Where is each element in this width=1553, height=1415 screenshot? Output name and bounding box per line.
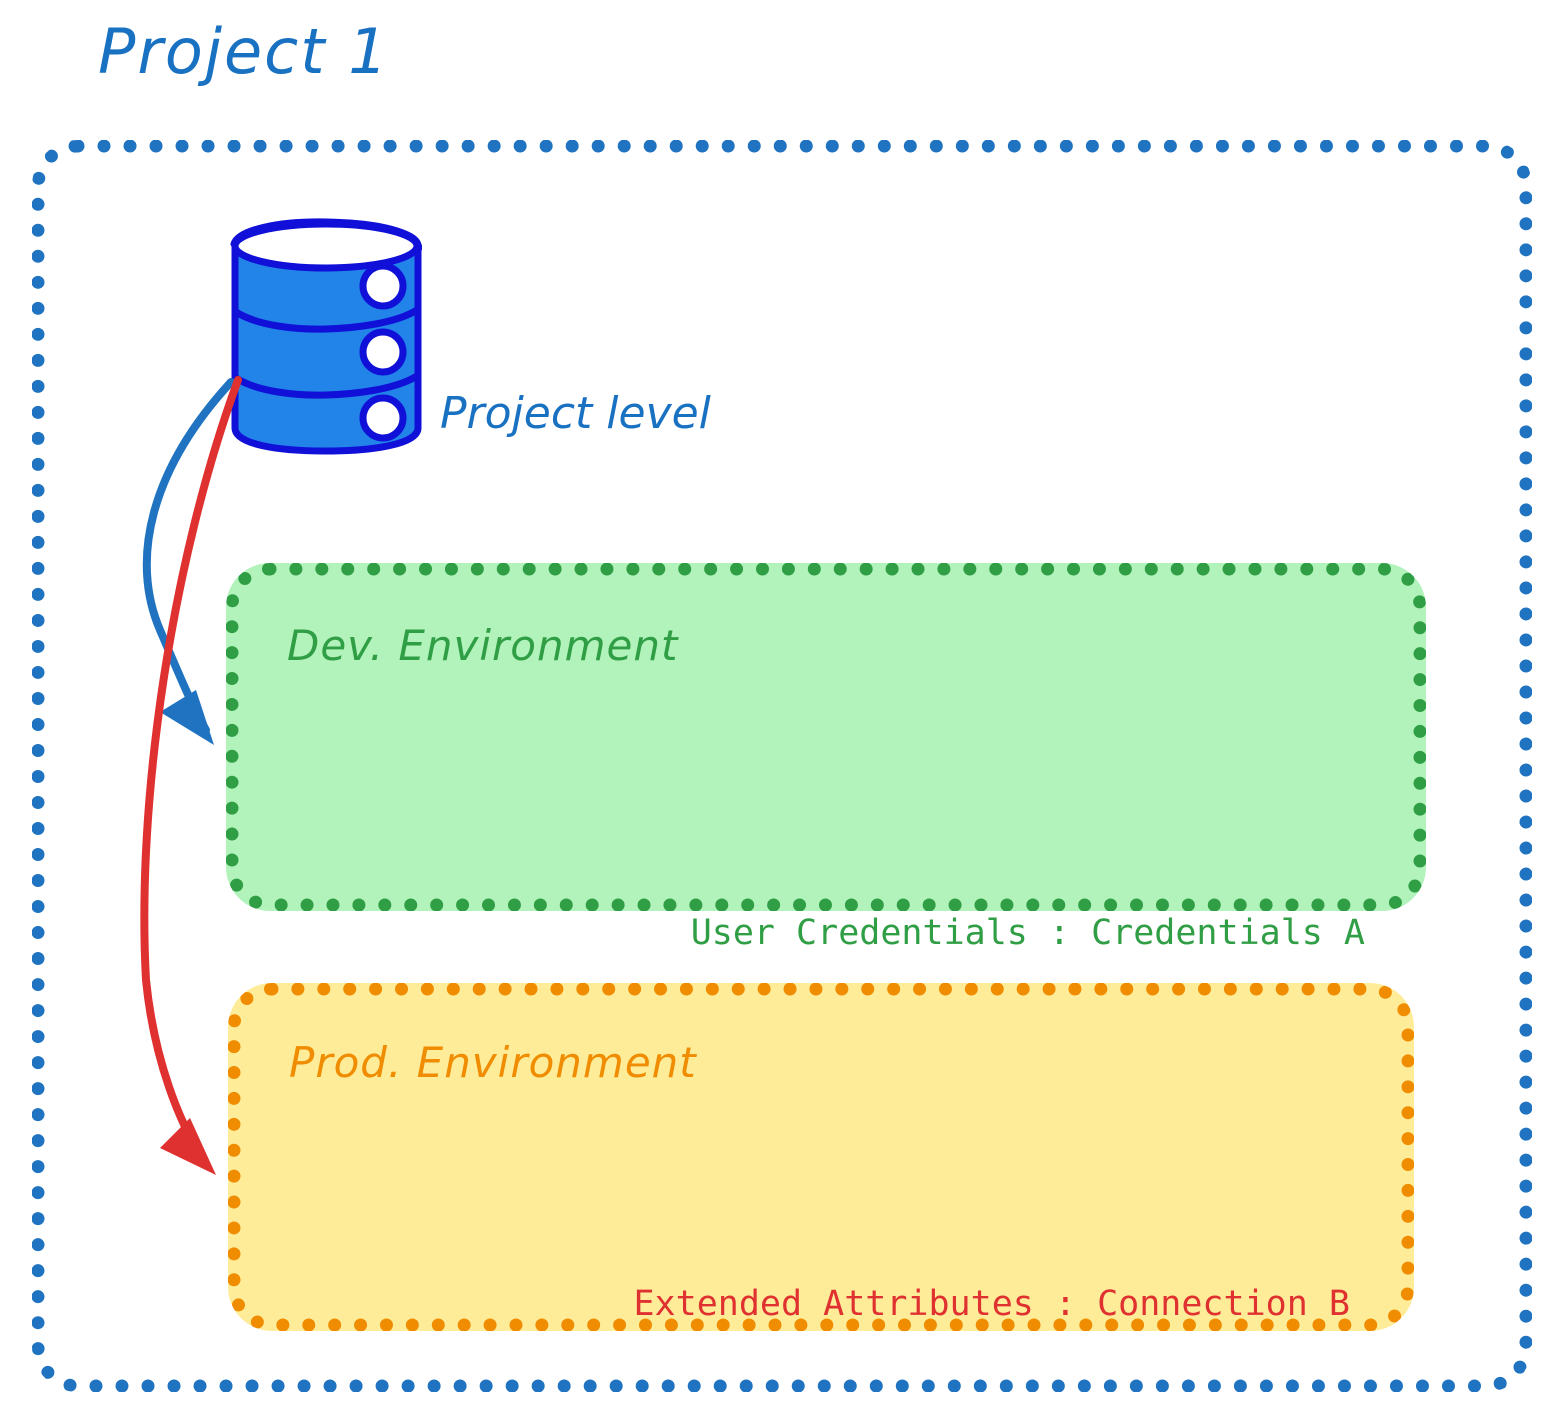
database-label-line-1: Project level (440, 384, 727, 443)
database-cylinder-icon[interactable] (228, 218, 422, 456)
prod-extended-attributes-line: Extended Attributes : Connection B (633, 1282, 1371, 1327)
dev-credentials-line: User Credentials : Credentials A (691, 911, 1365, 956)
dev-environment-title: Dev. Environment (287, 621, 678, 670)
prod-environment-box[interactable]: Prod. Environment Extended Attributes : … (228, 983, 1414, 1331)
prod-environment-details: Extended Attributes : Connection B Ext.A… (633, 1192, 1371, 1415)
dev-environment-box[interactable]: Dev. Environment User Credentials : Cred… (226, 563, 1426, 911)
page-title: Project 1 (98, 18, 390, 86)
prod-environment-title: Prod. Environment (289, 1038, 697, 1087)
diagram-canvas: Project 1 Project level connection A Dev… (0, 0, 1553, 1415)
